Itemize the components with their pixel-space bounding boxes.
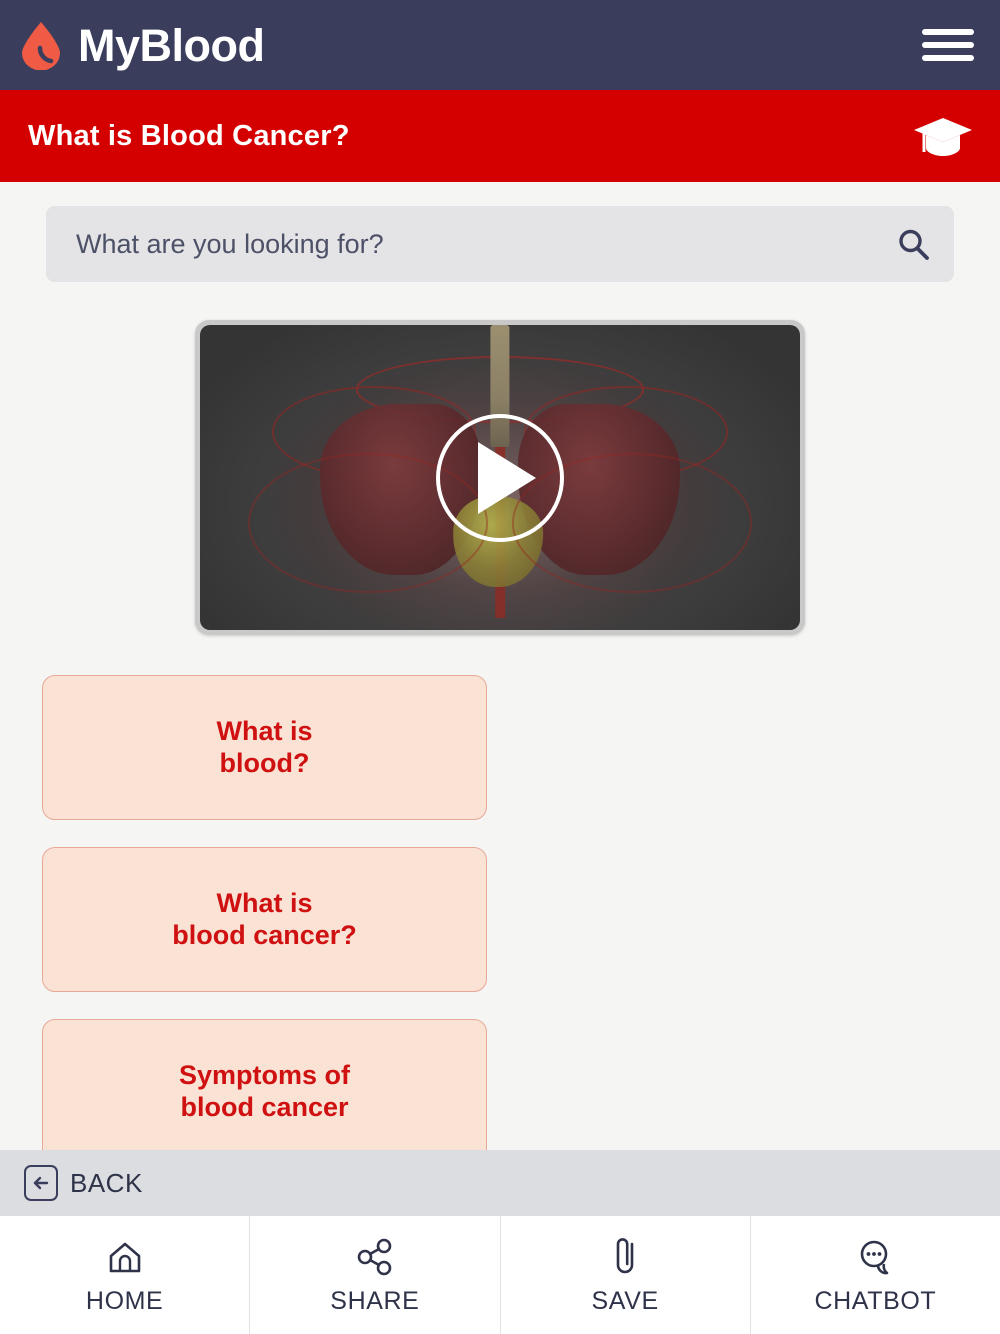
brand-name: MyBlood: [78, 23, 264, 68]
home-icon: [103, 1235, 147, 1279]
search-bar[interactable]: [46, 206, 954, 282]
play-button-icon[interactable]: [436, 414, 564, 542]
brand-header: MyBlood: [0, 0, 1000, 90]
card-label: What is blood?: [216, 716, 312, 780]
paperclip-icon: [603, 1235, 647, 1279]
video-thumbnail: [200, 325, 800, 630]
card-label: Symptoms of blood cancer: [179, 1060, 350, 1124]
video-section: [0, 320, 1000, 635]
page-title-bar: What is Blood Cancer?: [0, 90, 1000, 182]
hamburger-menu-icon[interactable]: [922, 25, 974, 65]
card-symptoms-of-blood-cancer[interactable]: Symptoms of blood cancer: [42, 1019, 487, 1150]
page-title: What is Blood Cancer?: [28, 120, 350, 153]
nav-item-save[interactable]: SAVE: [501, 1216, 751, 1334]
nav-item-chatbot[interactable]: CHATBOT: [751, 1216, 1000, 1334]
nav-label: HOME: [86, 1287, 163, 1316]
app-screen: MyBlood What is Blood Cancer?: [0, 0, 1000, 1334]
back-label: BACK: [70, 1168, 143, 1199]
nav-label: CHATBOT: [814, 1287, 936, 1316]
topic-card-list: What is blood? What is blood cancer? Sym…: [0, 675, 1000, 1150]
search-input[interactable]: [76, 229, 886, 260]
graduation-cap-icon[interactable]: [912, 112, 974, 160]
card-what-is-blood-cancer[interactable]: What is blood cancer?: [42, 847, 487, 992]
chat-bubble-icon: [853, 1235, 897, 1279]
nav-label: SAVE: [592, 1287, 659, 1316]
nav-item-share[interactable]: SHARE: [250, 1216, 500, 1334]
play-triangle: [478, 442, 536, 514]
main-content: What is blood? What is blood cancer? Sym…: [0, 182, 1000, 1150]
nav-label: SHARE: [330, 1287, 419, 1316]
nav-item-home[interactable]: HOME: [0, 1216, 250, 1334]
back-bar: BACK: [0, 1150, 1000, 1216]
back-button[interactable]: BACK: [24, 1165, 143, 1201]
back-arrow-icon: [24, 1165, 58, 1201]
bottom-navigation: HOME SHARE SAVE: [0, 1216, 1000, 1334]
blood-droplet-icon: [18, 20, 64, 70]
search-icon[interactable]: [896, 227, 930, 261]
share-icon: [353, 1235, 397, 1279]
brand-logo-group[interactable]: MyBlood: [18, 20, 264, 70]
video-player[interactable]: [195, 320, 805, 635]
search-section: [0, 182, 1000, 282]
card-what-is-blood[interactable]: What is blood?: [42, 675, 487, 820]
card-label: What is blood cancer?: [172, 888, 357, 952]
